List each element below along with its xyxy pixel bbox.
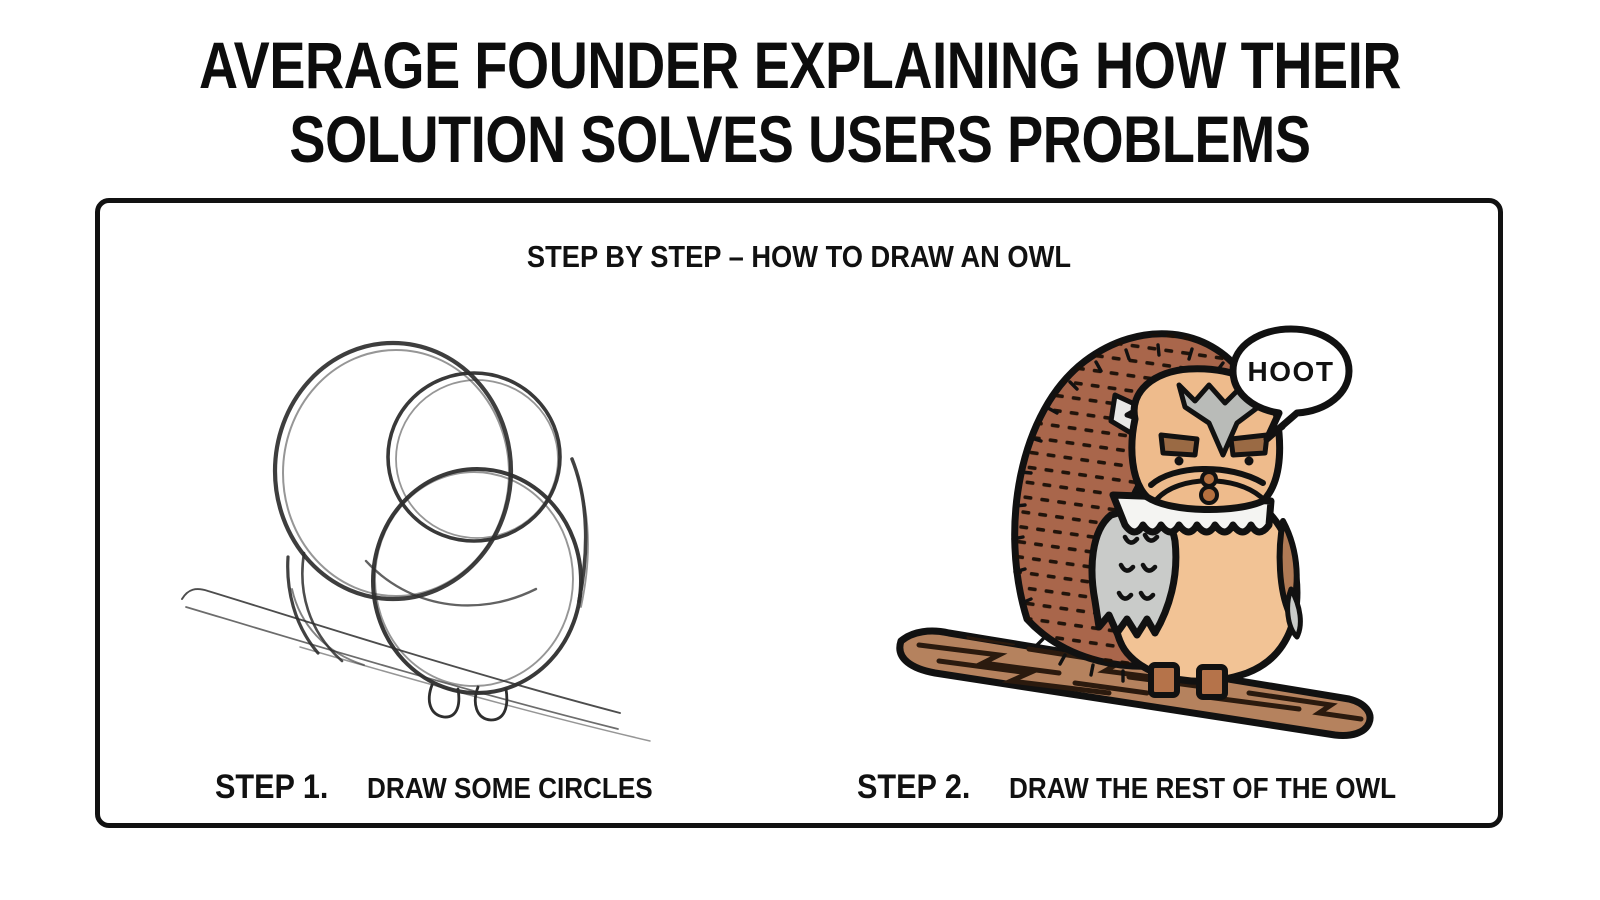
step-column-1: STEP 1. DRAW SOME CIRCLES — [100, 289, 799, 833]
step-2-number: STEP 2. — [857, 768, 970, 807]
step-1-illustration — [100, 289, 799, 749]
pencil-sketch-owl-icon — [180, 289, 720, 749]
step-2-caption: STEP 2. DRAW THE REST OF THE OWL — [799, 768, 1498, 807]
step-1-number: STEP 1. — [215, 768, 328, 807]
step-column-2: HOOT STEP 2. DRAW THE REST OF THE OWL — [799, 289, 1498, 833]
meme-title-line-2: SOLUTION SOLVES USERS PROBLEMS — [144, 102, 1456, 176]
meme-canvas: AVERAGE FOUNDER EXPLAINING HOW THEIR SOL… — [0, 0, 1600, 900]
step-2-illustration: HOOT — [799, 289, 1498, 749]
speech-bubble-text: HOOT — [1247, 356, 1334, 387]
meme-title: AVERAGE FOUNDER EXPLAINING HOW THEIR SOL… — [0, 28, 1600, 176]
cartoon-owl-icon: HOOT — [879, 289, 1419, 749]
tutorial-panel: STEP BY STEP – HOW TO DRAW AN OWL — [95, 198, 1503, 828]
panel-heading: STEP BY STEP – HOW TO DRAW AN OWL — [184, 239, 1414, 275]
meme-title-line-1: AVERAGE FOUNDER EXPLAINING HOW THEIR — [144, 28, 1456, 102]
step-1-description: DRAW SOME CIRCLES — [367, 773, 653, 806]
steps-container: STEP 1. DRAW SOME CIRCLES — [100, 289, 1498, 833]
step-2-description: DRAW THE REST OF THE OWL — [1009, 773, 1396, 806]
step-1-caption: STEP 1. DRAW SOME CIRCLES — [100, 768, 799, 807]
